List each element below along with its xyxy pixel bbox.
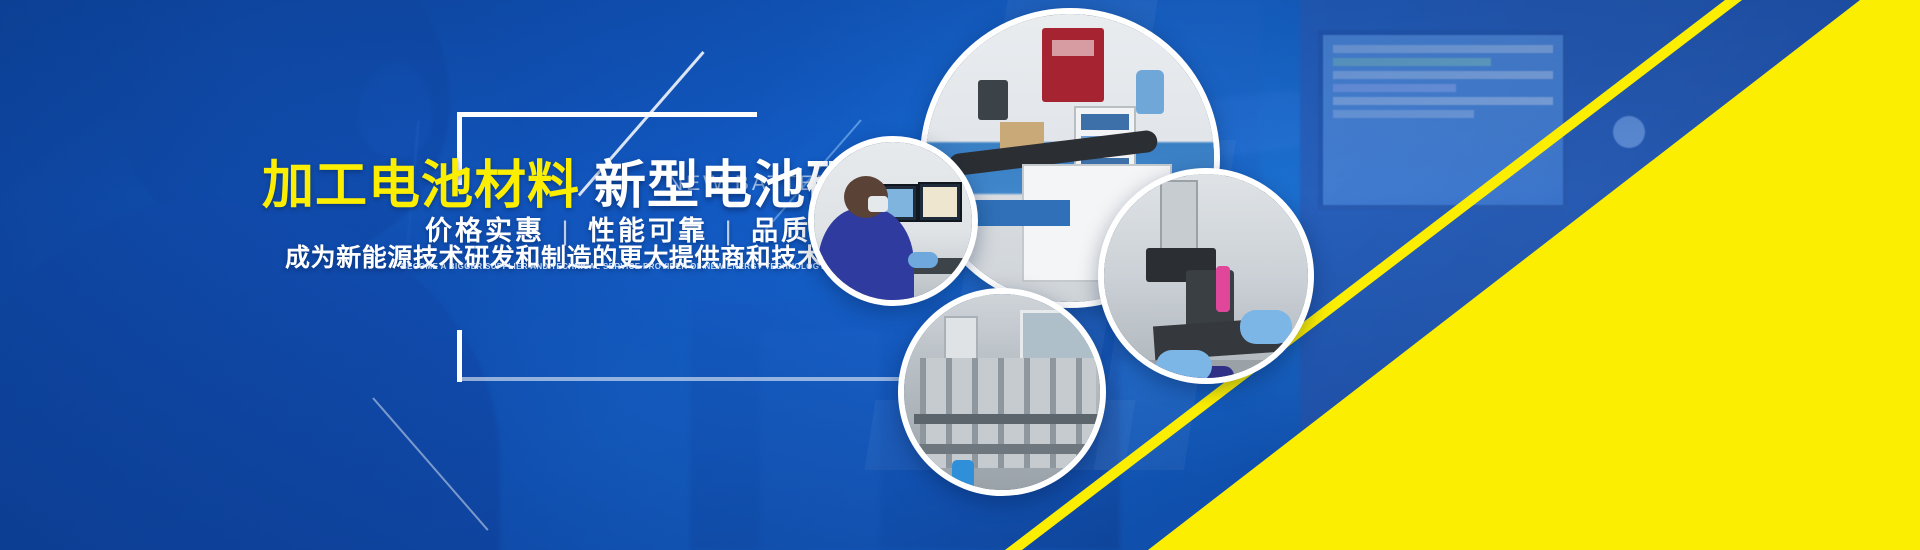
operator-face-mask — [868, 196, 888, 212]
line-control-box — [944, 316, 978, 360]
workshop-window — [1020, 310, 1102, 362]
promo-banner: NEW BATTERY RESEARCH 加工电池材料新型电池研究 价格实惠 |… — [0, 0, 1920, 550]
conveyor-rail-bottom — [914, 444, 1102, 454]
pink-handle-tool — [1216, 266, 1230, 312]
blue-container — [952, 460, 974, 490]
water-jug — [1136, 70, 1164, 114]
assembly-line-photo — [898, 288, 1106, 496]
waste-bin — [978, 80, 1008, 120]
monitor-right — [918, 182, 962, 222]
gloved-hand-right — [1240, 310, 1292, 344]
headline-highlight-text: 加工电池材料 — [262, 157, 580, 215]
operator-torso — [818, 208, 914, 306]
operator-gloved-hand — [908, 252, 938, 268]
wall-cabinet-red — [1042, 28, 1104, 102]
press-hands-photo — [1098, 168, 1314, 384]
conveyor-rail-top — [914, 414, 1102, 424]
gloved-hand-left — [1156, 350, 1212, 382]
operator-computer-photo — [808, 136, 978, 306]
